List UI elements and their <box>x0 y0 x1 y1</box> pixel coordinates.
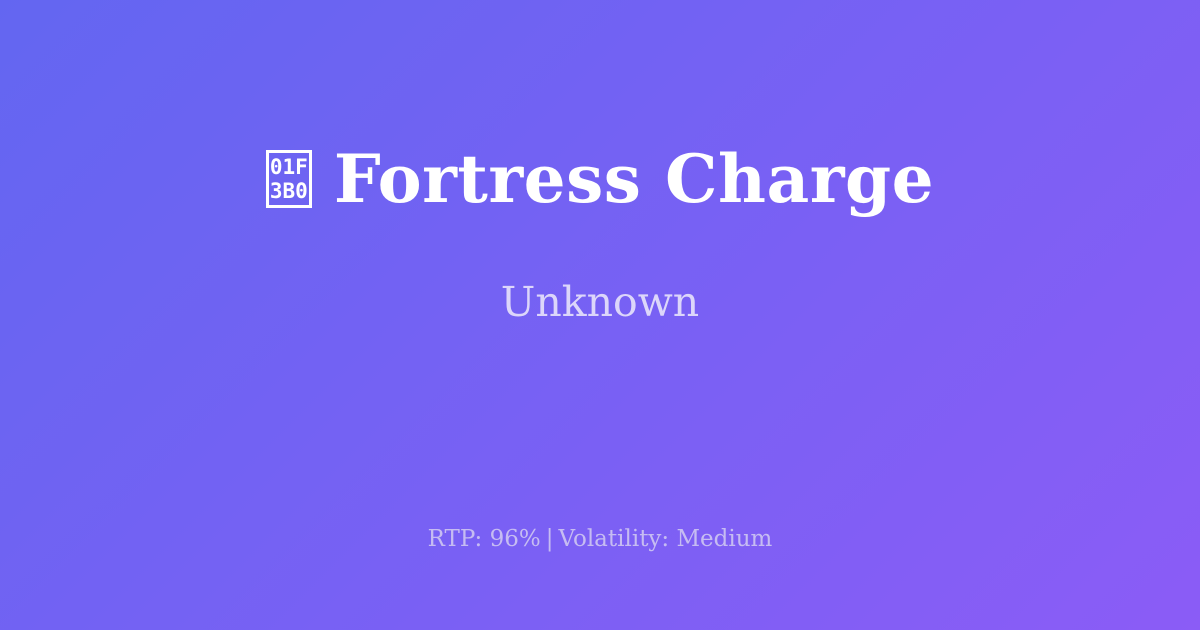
volatility-value: Volatility: Medium <box>558 526 772 552</box>
tofu-codepoint-bottom: 3B0 <box>270 179 308 203</box>
tofu-codepoint-top: 01F <box>270 155 308 179</box>
rtp-value: RTP: 96% <box>428 526 541 552</box>
game-title-text: Fortress Charge <box>334 145 934 214</box>
og-share-card: 01F 3B0 Fortress Charge Unknown RTP: 96%… <box>0 0 1200 630</box>
meta-separator: | <box>541 526 559 552</box>
game-meta-line: RTP: 96%|Volatility: Medium <box>0 526 1200 554</box>
page-title: 01F 3B0 Fortress Charge <box>266 145 934 214</box>
title-block: 01F 3B0 Fortress Charge Unknown <box>0 0 1200 470</box>
slot-machine-icon: 01F 3B0 <box>266 150 312 208</box>
game-subtitle: Unknown <box>501 214 699 325</box>
